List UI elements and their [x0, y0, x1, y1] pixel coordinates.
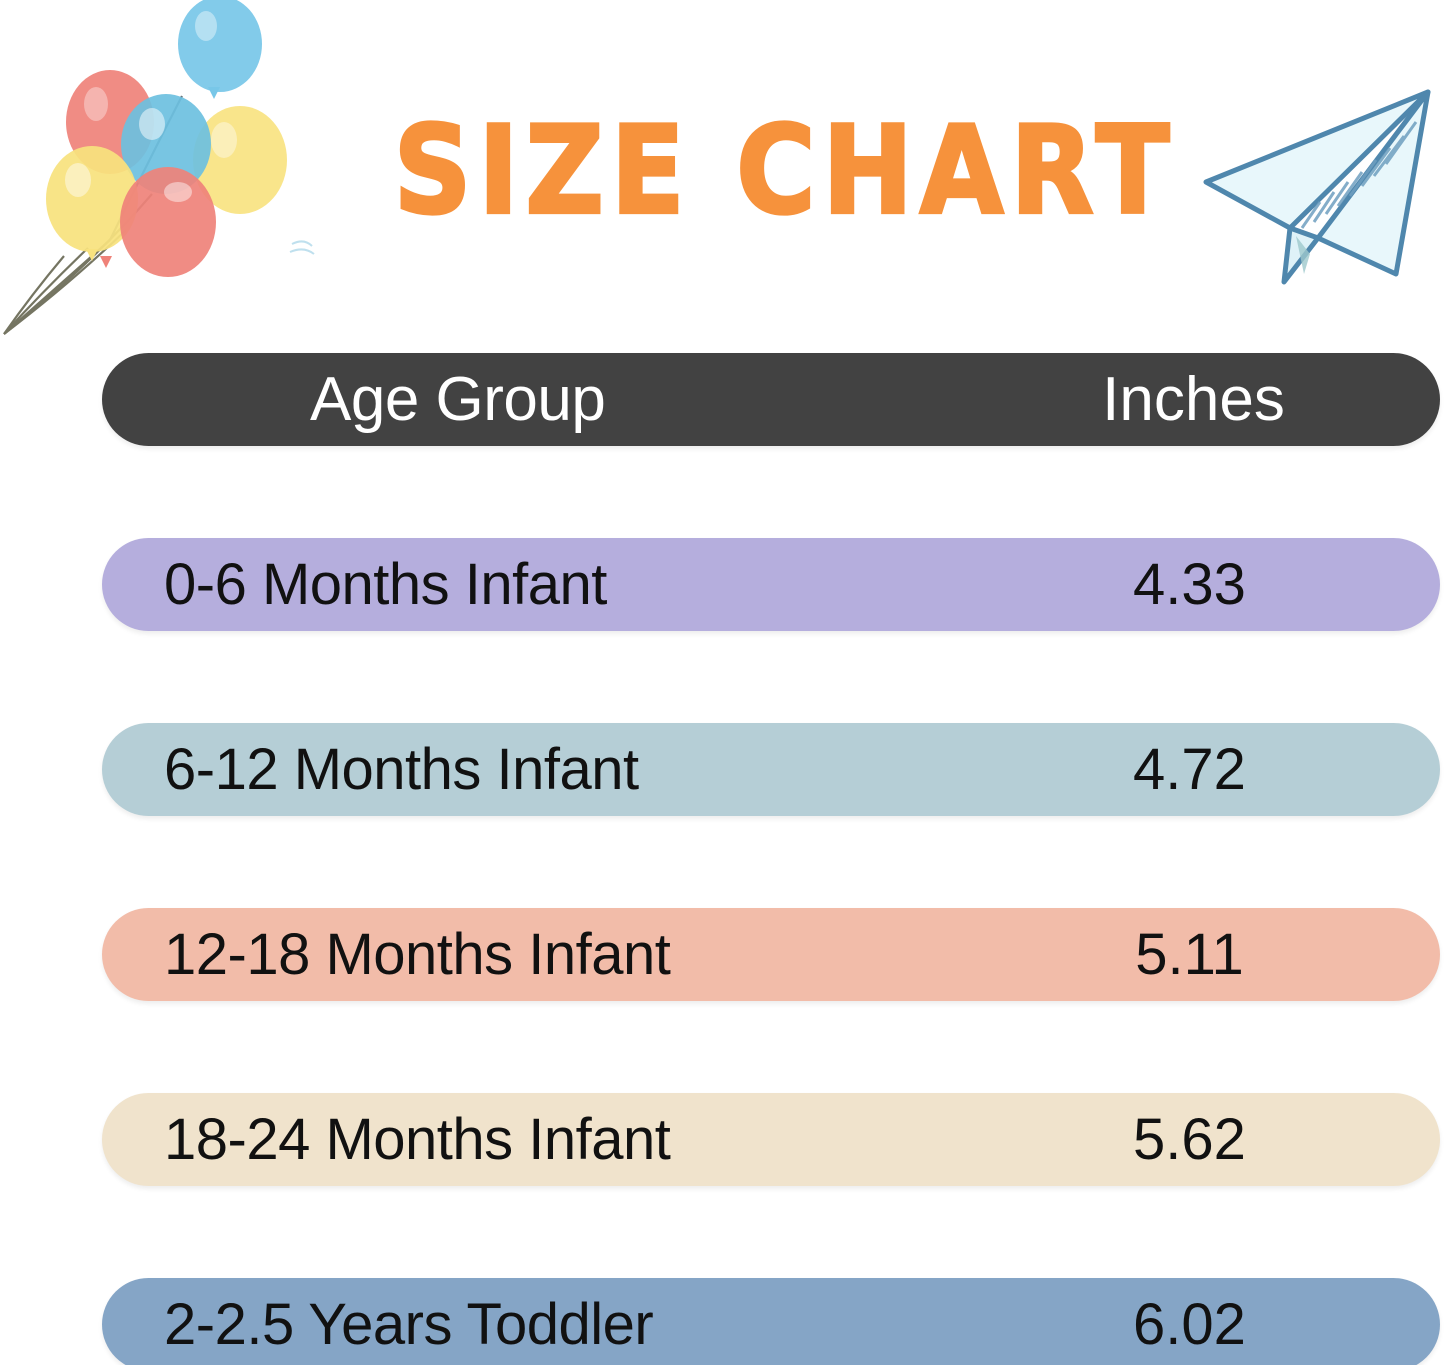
balloons-icon: [0, 0, 322, 344]
cell-age-group: 2-2.5 Years Toddler: [102, 1291, 1007, 1358]
table-row: 6-12 Months Infant 4.72: [102, 723, 1440, 816]
column-header-inches: Inches: [1007, 364, 1440, 435]
cell-inches: 4.72: [1007, 736, 1440, 803]
cell-inches: 5.11: [1007, 921, 1440, 988]
cell-inches: 5.62: [1007, 1106, 1440, 1173]
size-chart-table: Age Group Inches 0-6 Months Infant 4.33 …: [102, 353, 1440, 1365]
cell-age-group: 6-12 Months Infant: [102, 736, 1007, 803]
table-row: 2-2.5 Years Toddler 6.02: [102, 1278, 1440, 1365]
cell-inches: 4.33: [1007, 551, 1440, 618]
page-title-text: SIZE CHART: [394, 101, 1177, 241]
paper-plane-icon: [1178, 78, 1445, 303]
table-header-row: Age Group Inches: [102, 353, 1440, 446]
size-chart-page: SIZE CHART Age Group Inches 0-6 Months I…: [0, 0, 1445, 1365]
table-row: 0-6 Months Infant 4.33: [102, 538, 1440, 631]
column-header-age-group: Age Group: [102, 364, 1007, 435]
cell-age-group: 0-6 Months Infant: [102, 551, 1007, 618]
table-row: 12-18 Months Infant 5.11: [102, 908, 1440, 1001]
cell-age-group: 18-24 Months Infant: [102, 1106, 1007, 1173]
cell-age-group: 12-18 Months Infant: [102, 921, 1007, 988]
table-row: 18-24 Months Infant 5.62: [102, 1093, 1440, 1186]
cell-inches: 6.02: [1007, 1291, 1440, 1358]
page-title: SIZE CHART: [395, 96, 1175, 246]
